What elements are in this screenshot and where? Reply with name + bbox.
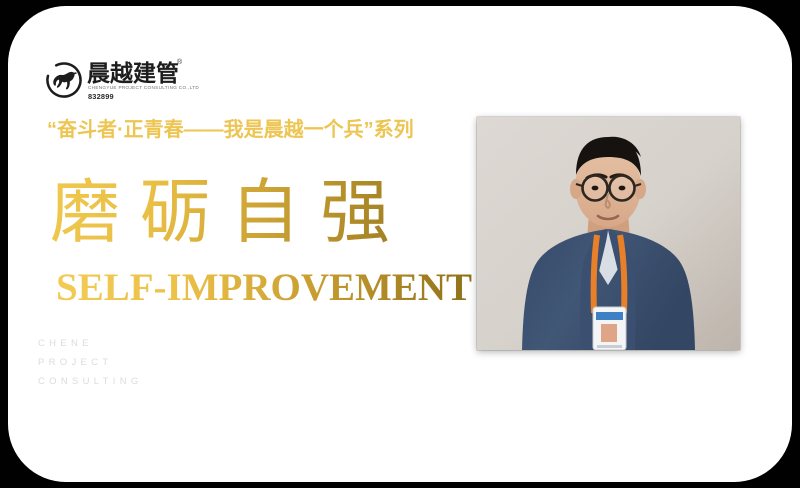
brand-line-3: CONSULTING	[38, 372, 143, 391]
brand-footer: CHENE PROJECT CONSULTING	[38, 334, 143, 391]
company-logo: 晨越建管 ® CHENGYUE PROJECT CONSULTING CO.,L…	[46, 60, 256, 106]
brand-line-2: PROJECT	[38, 353, 143, 372]
series-label: “奋斗者·正青春——我是晨越一个兵”系列	[47, 118, 414, 142]
brand-line-1: CHENE	[38, 334, 143, 353]
horse-emblem-icon	[46, 62, 82, 98]
slide-canvas: 晨越建管 ® CHENGYUE PROJECT CONSULTING CO.,L…	[0, 0, 800, 488]
main-title-cn: 磨砺自强	[50, 172, 410, 252]
logo-wordmark: 晨越建管	[87, 60, 179, 86]
logo-pinyin-line: CHENGYUE PROJECT CONSULTING CO.,LTD	[88, 85, 199, 90]
logo-stock-code: 832899	[88, 92, 114, 101]
registered-trademark-icon: ®	[177, 59, 182, 66]
portrait-photo	[477, 117, 740, 350]
main-title-en: SELF-IMPROVEMENT	[56, 266, 472, 310]
